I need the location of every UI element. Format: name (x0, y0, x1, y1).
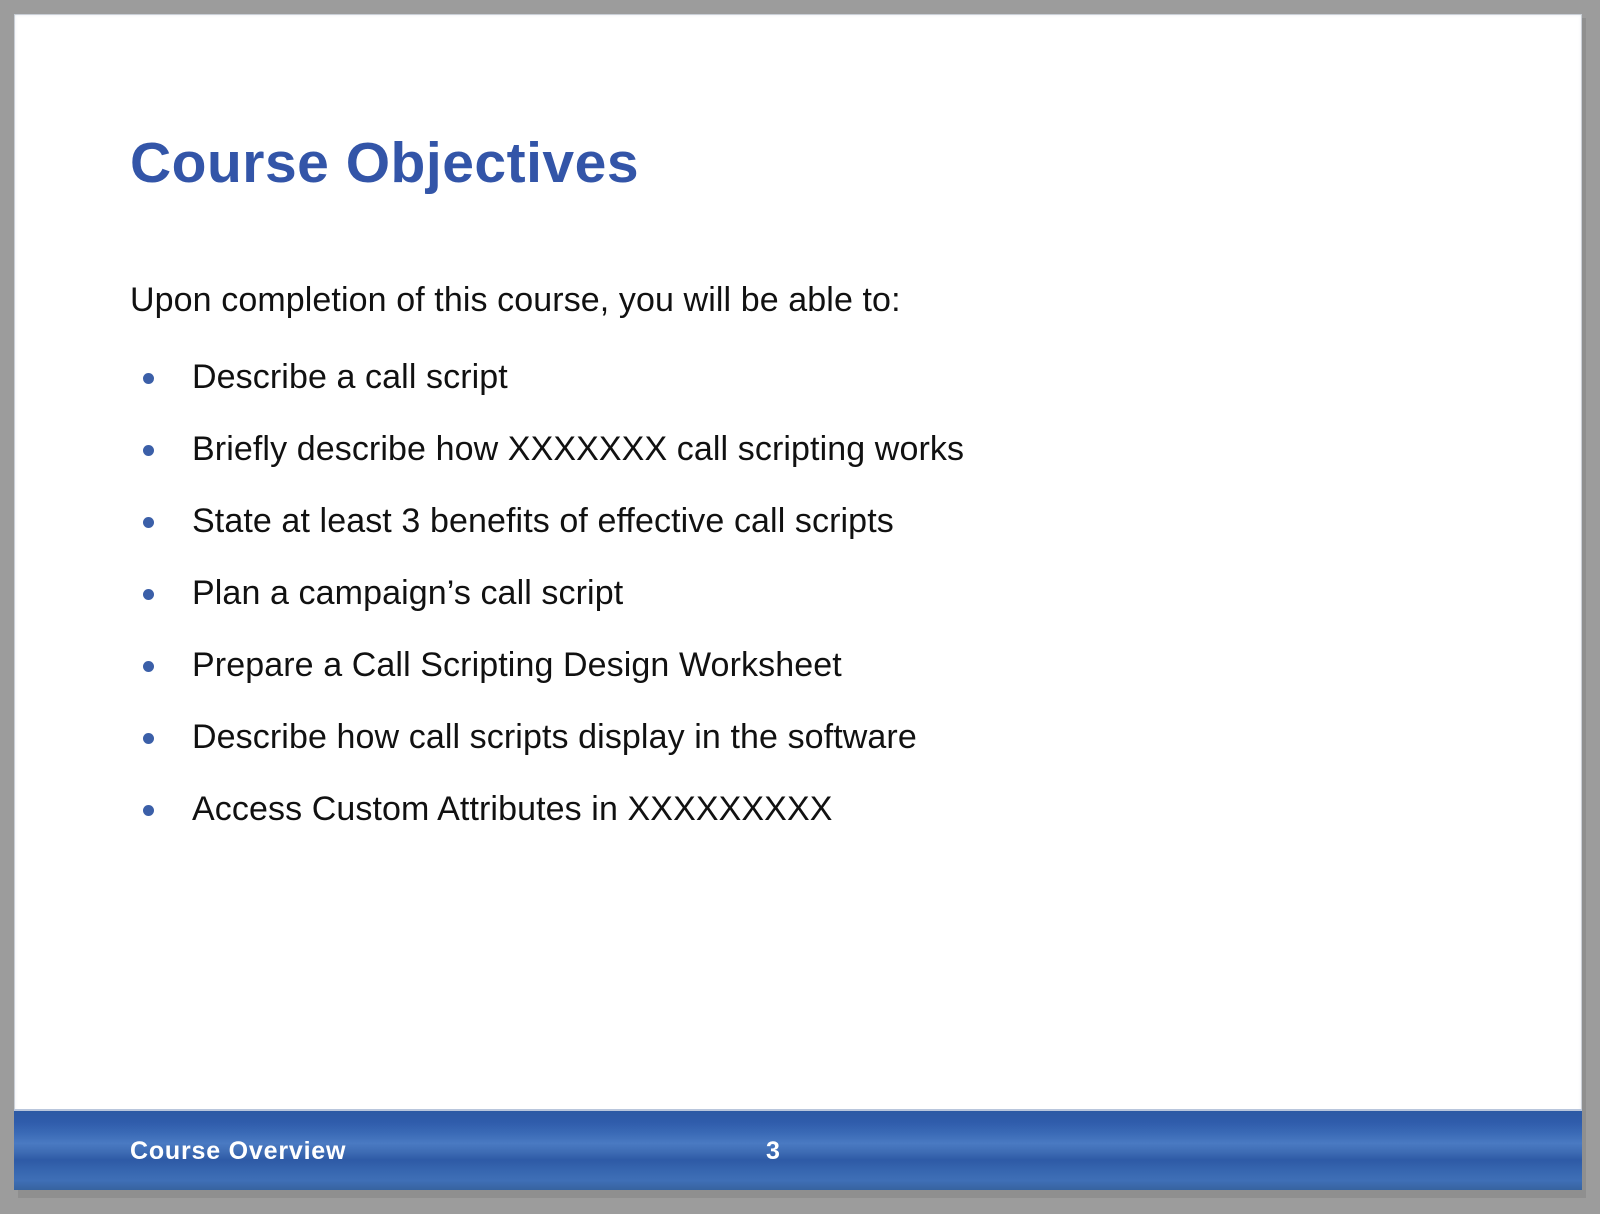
slide-title: Course Objectives (130, 130, 639, 196)
footer-section-label: Course Overview (130, 1137, 346, 1166)
list-item-label: Access Custom Attributes in XXXXXXXXX (192, 790, 833, 828)
bullet-dot-icon (143, 517, 154, 528)
objectives-list: Describe a call script Briefly describe … (130, 360, 1460, 826)
bullet-dot-icon (143, 445, 154, 456)
list-item-label: Describe a call script (192, 358, 508, 396)
list-item: Plan a campaign’s call script (130, 576, 1460, 610)
bullet-dot-icon (143, 805, 154, 816)
bullet-dot-icon (143, 661, 154, 672)
list-item: State at least 3 benefits of effective c… (130, 504, 1460, 538)
bullet-dot-icon (143, 733, 154, 744)
list-item: Describe a call script (130, 360, 1460, 394)
footer-page-number: 3 (766, 1137, 780, 1166)
list-item: Describe how call scripts display in the… (130, 720, 1460, 754)
list-item: Briefly describe how XXXXXXX call script… (130, 432, 1460, 466)
slide-footer-bar: Course Overview 3 (14, 1109, 1582, 1190)
list-item: Access Custom Attributes in XXXXXXXXX (130, 792, 1460, 826)
list-item-label: Briefly describe how XXXXXXX call script… (192, 430, 964, 468)
list-item-label: Prepare a Call Scripting Design Workshee… (192, 646, 842, 684)
intro-paragraph: Upon completion of this course, you will… (130, 281, 1460, 320)
slide-body: Upon completion of this course, you will… (130, 247, 1460, 864)
list-item-label: State at least 3 benefits of effective c… (192, 502, 894, 540)
bullet-dot-icon (143, 373, 154, 384)
bullet-dot-icon (143, 589, 154, 600)
list-item-label: Describe how call scripts display in the… (192, 718, 917, 756)
list-item: Prepare a Call Scripting Design Workshee… (130, 648, 1460, 682)
presentation-backdrop: Course Objectives Upon completion of thi… (0, 0, 1600, 1214)
list-item-label: Plan a campaign’s call script (192, 574, 623, 612)
slide-canvas: Course Objectives Upon completion of thi… (14, 14, 1582, 1190)
